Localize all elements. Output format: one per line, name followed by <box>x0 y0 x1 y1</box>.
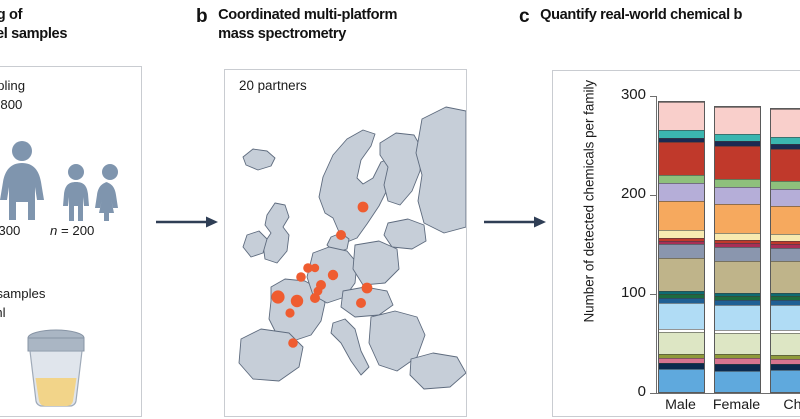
bar-segment <box>659 183 704 201</box>
urine-cup-icon <box>28 330 84 406</box>
bar-segment <box>715 204 760 233</box>
bar-segment <box>715 333 760 355</box>
bar-children <box>770 108 800 393</box>
panel-c-title: Quantify real-world chemical b <box>540 6 742 25</box>
panel-a-samples-line1: nd urine samples <box>0 286 45 301</box>
panel-a-child-n-value: = 200 <box>61 223 94 238</box>
map-united-kingdom <box>263 203 289 263</box>
map-iceland <box>243 149 275 170</box>
bar-male <box>658 101 705 393</box>
bar-segment <box>771 189 800 206</box>
panel-b-title: Coordinated multi-platform mass spectrom… <box>218 6 397 44</box>
y-tick-label: 200 <box>604 185 646 202</box>
bar-segment <box>659 332 704 355</box>
bar-segment <box>715 233 760 241</box>
bar-segment <box>659 258 704 291</box>
bar-segment <box>715 107 760 134</box>
bar-segment <box>771 248 800 261</box>
panel-a-title-line1: pooling of <box>0 7 22 23</box>
map-italy <box>331 319 369 375</box>
x-label-children: Ch <box>756 397 800 413</box>
partner-marker <box>310 293 320 303</box>
panel-a-adult-count: n = 300 <box>0 223 20 238</box>
bar-segment <box>771 137 800 145</box>
map-ireland <box>243 231 267 257</box>
bar-segment <box>715 364 760 371</box>
bar-segment <box>771 370 800 392</box>
bar-segment <box>659 102 704 130</box>
panel-a-title-line2: on-level samples <box>0 26 67 42</box>
flow-arrow-b-to-c <box>484 215 546 234</box>
child-figures-icon <box>60 163 132 226</box>
bar-segment <box>715 305 760 330</box>
bar-female <box>714 106 761 393</box>
map-southeast <box>410 353 466 389</box>
figure-root: a pooling of on-level samples ation samp… <box>0 0 800 419</box>
sample-vessels-icons <box>0 318 110 419</box>
panel-a-sampling-line1: ation sampling <box>0 78 25 93</box>
bar-segment <box>659 130 704 138</box>
partner-marker <box>311 264 319 272</box>
panel-c-letter: c <box>519 6 529 28</box>
panel-a-heading: a pooling of on-level samples <box>0 6 174 44</box>
partner-marker <box>288 338 298 348</box>
bar-segment <box>659 369 704 392</box>
bar-segment <box>771 206 800 234</box>
bar-segment <box>715 371 760 392</box>
map-poland <box>353 241 399 285</box>
partner-marker <box>328 270 338 280</box>
y-tick-mark <box>650 96 656 97</box>
y-tick-mark <box>650 294 656 295</box>
flow-arrow-a-to-b <box>156 215 218 234</box>
bar-segment <box>771 149 800 181</box>
europe-map <box>225 95 466 415</box>
panel-c-heading: c Quantify real-world chemical b <box>519 6 800 28</box>
panel-b-title-line2: mass spectrometry <box>218 26 346 42</box>
chart-bars <box>657 96 800 393</box>
bar-segment <box>715 261 760 293</box>
map-baltics <box>384 219 426 249</box>
y-tick-label: 0 <box>604 383 646 400</box>
y-tick-mark <box>650 195 656 196</box>
panel-a-adult-n-value: = 300 <box>0 223 20 238</box>
bar-segment <box>715 134 760 142</box>
y-tick-label: 300 <box>604 86 646 103</box>
bar-segment <box>771 333 800 356</box>
panel-a-sampling-n: n = 800 <box>0 97 22 112</box>
map-iberia <box>239 329 303 381</box>
partner-marker <box>271 290 284 303</box>
panel-a-child-n-symbol: n <box>50 223 57 238</box>
adult-female-figure-icon <box>0 140 52 225</box>
bar-segment <box>715 247 760 261</box>
map-russia-west <box>416 107 466 233</box>
partners-count-label: 20 partners <box>239 78 307 93</box>
partner-marker <box>296 272 306 282</box>
bar-segment <box>771 109 800 137</box>
partner-marker <box>291 295 303 307</box>
bar-segment <box>715 179 760 187</box>
bar-segment <box>659 175 704 183</box>
partner-marker <box>362 283 373 294</box>
bar-segment <box>659 201 704 230</box>
stacked-bar-chart: Number of detected chemicals per family … <box>552 70 800 417</box>
y-tick-label: 100 <box>604 284 646 301</box>
bar-segment <box>771 305 800 330</box>
bar-segment <box>659 303 704 329</box>
partner-marker <box>336 230 346 240</box>
panel-a-title: pooling of on-level samples <box>0 6 67 44</box>
bar-segment <box>771 181 800 189</box>
bar-segment <box>771 234 800 242</box>
bar-segment <box>659 142 704 175</box>
partner-marker <box>356 298 366 308</box>
bar-segment <box>659 244 704 258</box>
chart-y-axis-label: Number of detected chemicals per family <box>582 83 597 323</box>
panel-b-heading: b Coordinated multi-platform mass spectr… <box>196 6 496 44</box>
bar-segment <box>771 261 800 293</box>
bar-segment <box>715 187 760 204</box>
panel-b-letter: b <box>196 6 207 28</box>
partner-marker <box>358 202 369 213</box>
partner-marker <box>285 308 294 317</box>
panel-b-title-line1: Coordinated multi-platform <box>218 7 397 23</box>
panel-a-child-count: n = 200 <box>50 223 94 238</box>
bar-segment <box>659 230 704 238</box>
y-tick-mark <box>650 393 656 394</box>
panel-a-sampling-n-value: = 800 <box>0 97 22 112</box>
bar-segment <box>715 146 760 179</box>
chart-x-axis-line <box>656 393 800 394</box>
